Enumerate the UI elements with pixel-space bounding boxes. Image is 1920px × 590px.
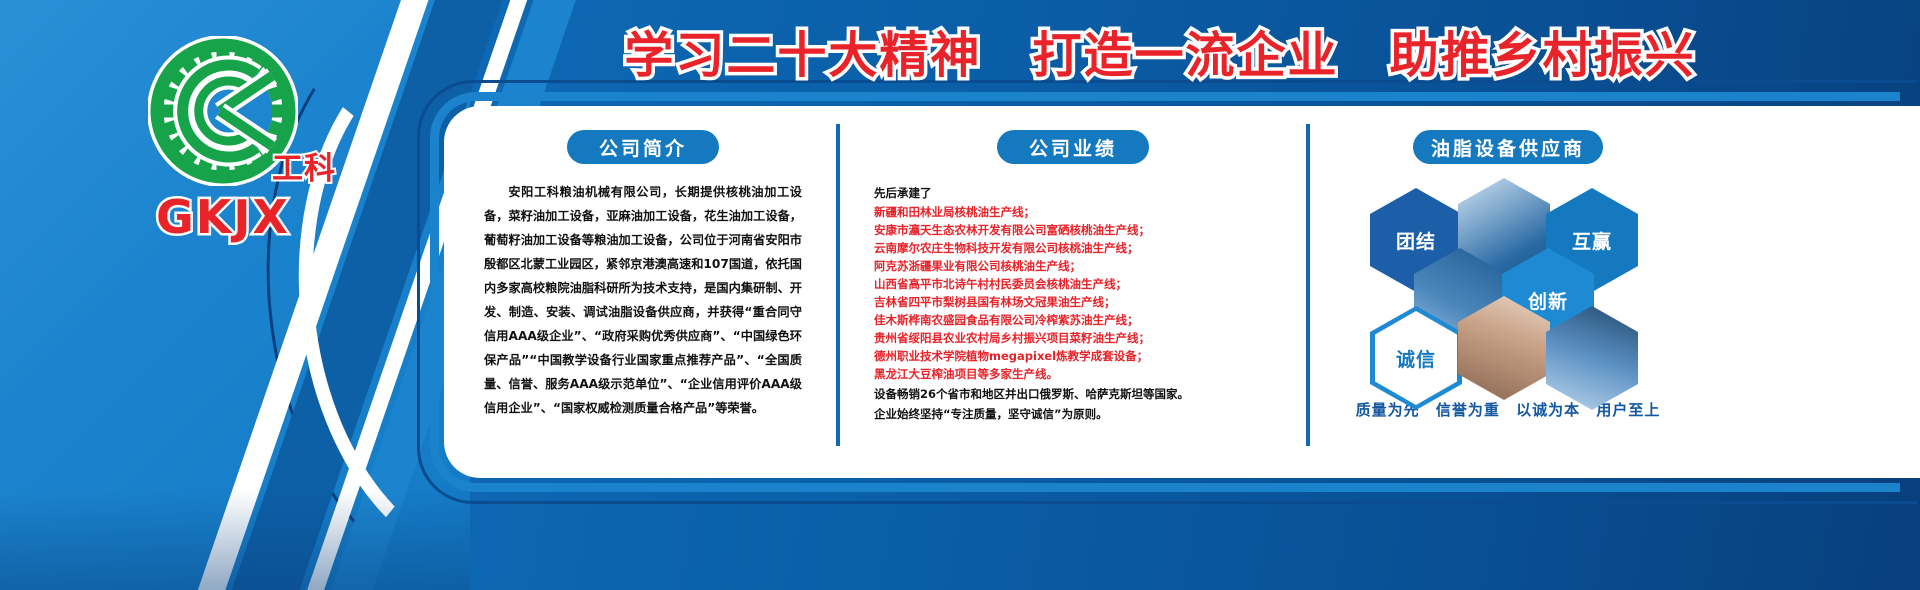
list-item: 吉林省四平市梨树县国有林场文冠果油生产线； <box>874 293 1272 311</box>
headline-part-3: 助推乡村振兴 <box>1390 27 1696 84</box>
headline-part-2: 打造一流企业 <box>1032 27 1338 84</box>
panel-title-company-performance: 公司业绩 <box>997 130 1149 164</box>
list-item: 阿克苏浙疆果业有限公司核桃油生产线； <box>874 257 1272 275</box>
list-item: 云南摩尔农庄生物科技开发有限公司核桃油生产线； <box>874 239 1272 257</box>
hex-chengxin: 诚信 <box>1370 306 1462 410</box>
logo-label-en: GKJX <box>118 190 328 244</box>
performance-footer-2: 企业始终坚持“专注质量，坚守诚信”为原则。 <box>874 405 1272 423</box>
panel-title-company-profile: 公司简介 <box>567 130 719 164</box>
headline-part-1: 学习二十大精神 <box>624 27 981 84</box>
panel-divider-1 <box>836 124 840 446</box>
poster-canvas: 工科 GKJX 学习二十大精神 打造一流企业 助推乡村振兴 公司简介 安阳工科粮… <box>0 0 1920 590</box>
logo-label-cn: 工科 <box>272 143 336 188</box>
list-item: 安康市瀛天生态农林开发有限公司富硒核桃油生产线； <box>874 221 1272 239</box>
performance-list: 新疆和田林业局核桃油生产线； 安康市瀛天生态农林开发有限公司富硒核桃油生产线； … <box>874 203 1272 383</box>
list-item: 佳木斯桦南农盛园食品有限公司冷榨紫苏油生产线； <box>874 311 1272 329</box>
performance-intro: 先后承建了 <box>874 184 1272 202</box>
hex-chengxin-label: 诚信 <box>1370 306 1462 410</box>
content-panels: 公司简介 安阳工科粮油机械有限公司，长期提供核桃油加工设备，菜籽油加工设备，亚麻… <box>468 118 1908 470</box>
panel-supplier: 油脂设备供应商 团结 互赢 创新 诚信 质量为先 信誉为重 <box>1328 118 1688 470</box>
slogan-part-3: 以诚为本 <box>1516 401 1580 419</box>
performance-footer-1: 设备畅销26个省市和地区并出口俄罗斯、哈萨克斯坦等国家。 <box>874 385 1272 403</box>
list-item: 黑龙江大豆榨油项目等多家生产线。 <box>874 365 1272 383</box>
panel-title-supplier: 油脂设备供应商 <box>1413 130 1603 164</box>
list-item: 德州职业技术学院植物megapixel炼教学成套设备； <box>874 347 1272 365</box>
company-logo: 工科 GKJX <box>118 36 328 236</box>
company-profile-body: 安阳工科粮油机械有限公司，长期提供核桃油加工设备，菜籽油加工设备，亚麻油加工设备… <box>484 180 802 420</box>
panel-divider-2 <box>1306 124 1310 446</box>
slogan-part-4: 用户至上 <box>1596 401 1660 419</box>
panel-company-profile: 公司简介 安阳工科粮油机械有限公司，长期提供核桃油加工设备，菜籽油加工设备，亚麻… <box>468 118 818 470</box>
decorative-bottom-strip <box>0 490 470 590</box>
list-item: 贵州省绥阳县农业农村局乡村振兴项目菜籽油生产线； <box>874 329 1272 347</box>
panel-company-performance: 公司业绩 先后承建了 新疆和田林业局核桃油生产线； 安康市瀛天生态农林开发有限公… <box>858 118 1288 470</box>
list-item: 山西省高平市北诗午村村民委员会核桃油生产线； <box>874 275 1272 293</box>
poster-headline: 学习二十大精神 打造一流企业 助推乡村振兴 <box>430 16 1890 87</box>
hexagon-cluster: 团结 互赢 创新 诚信 <box>1344 178 1674 393</box>
list-item: 新疆和田林业局核桃油生产线； <box>874 203 1272 221</box>
